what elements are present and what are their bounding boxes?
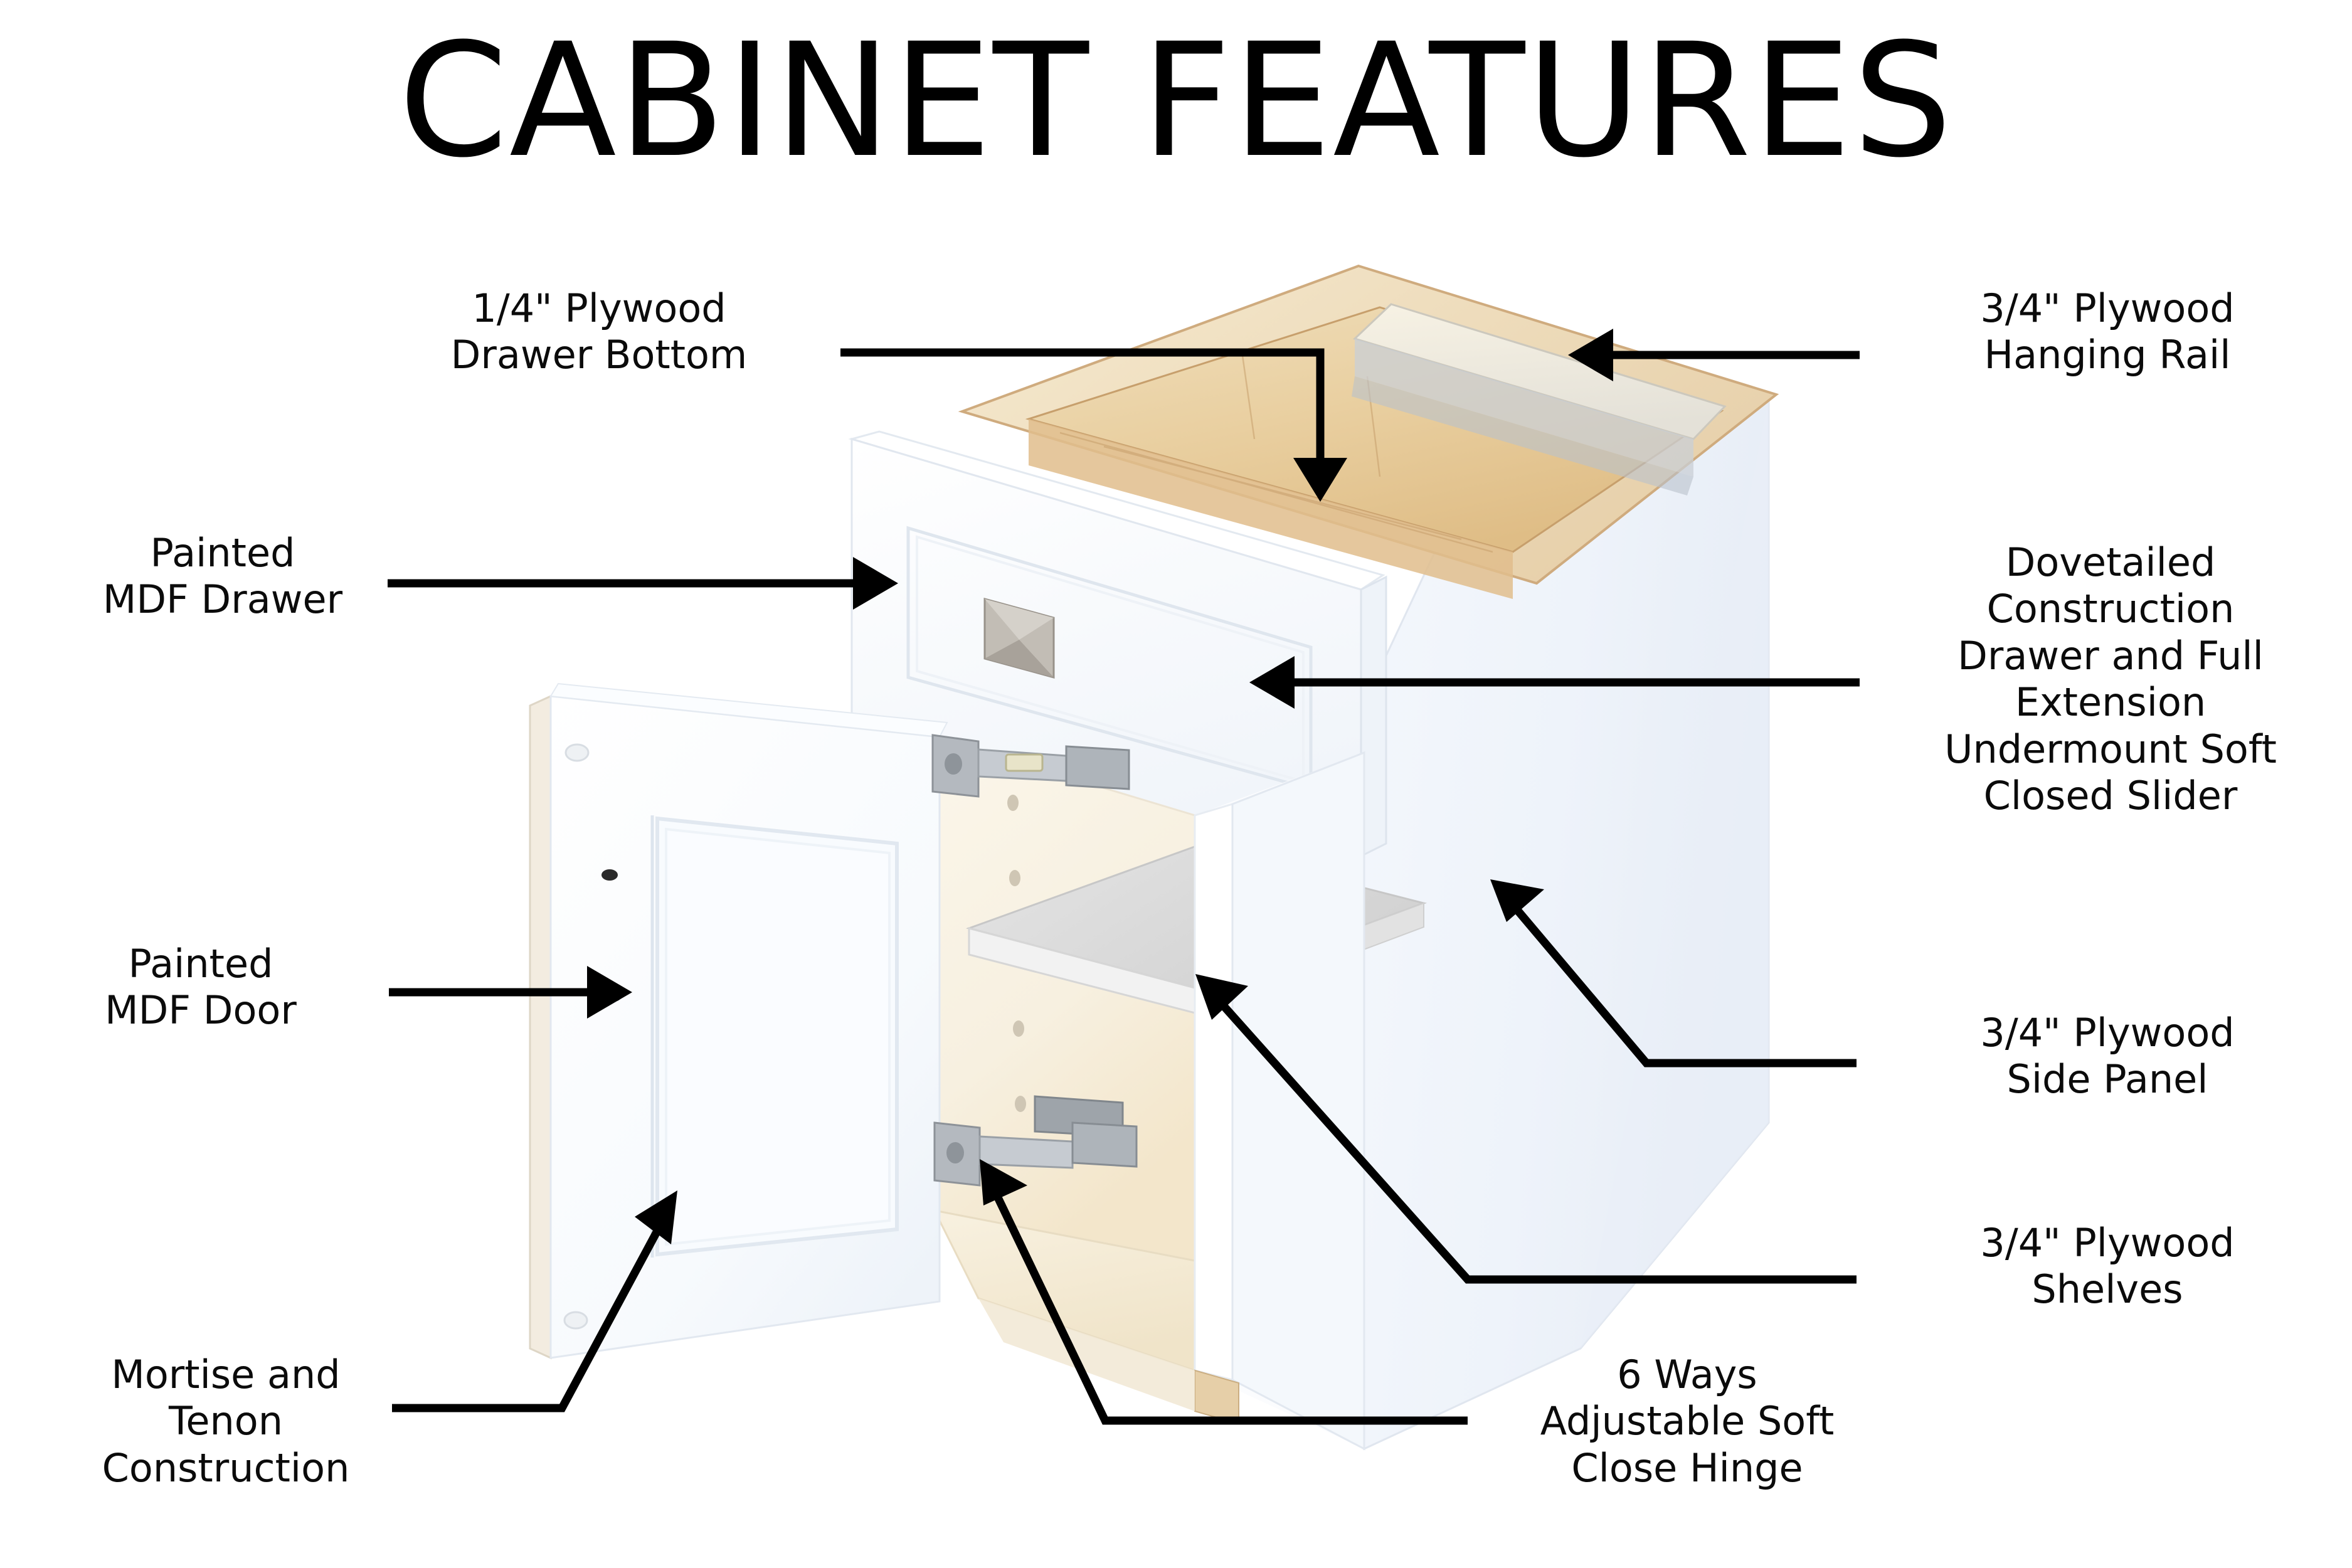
leader-line-shelves <box>1195 974 1857 1279</box>
label-adjustable-soft-close-hinge: 6 Ways Adjustable Soft Close Hinge <box>1461 1352 1913 1491</box>
leader-line-side-panel <box>1490 879 1857 1063</box>
label-mortise-and-tenon-construction: Mortise and Tenon Construction <box>38 1352 414 1491</box>
diagram-canvas: CABINET FEATURES <box>0 0 2352 1568</box>
leader-line-mortise-and-tenon <box>392 1190 677 1408</box>
leader-line-painted-mdf-drawer <box>388 557 898 610</box>
label-plywood-hanging-rail: 3/4" Plywood Hanging Rail <box>1869 285 2346 379</box>
leader-line-dovetailed-construction <box>1249 656 1860 709</box>
label-plywood-drawer-bottom: 1/4" Plywood Drawer Bottom <box>370 285 828 379</box>
label-plywood-side-panel: 3/4" Plywood Side Panel <box>1869 1010 2346 1103</box>
label-painted-mdf-drawer: Painted MDF Drawer <box>38 530 408 623</box>
leader-line-drawer-bottom <box>840 352 1347 502</box>
label-dovetailed-construction: Dovetailed Construction Drawer and Full … <box>1869 539 2352 819</box>
leader-line-hanging-rail <box>1568 329 1860 381</box>
label-painted-mdf-door: Painted MDF Door <box>38 941 364 1034</box>
leader-line-painted-mdf-door <box>389 966 632 1019</box>
label-plywood-shelves: 3/4" Plywood Shelves <box>1869 1220 2346 1313</box>
